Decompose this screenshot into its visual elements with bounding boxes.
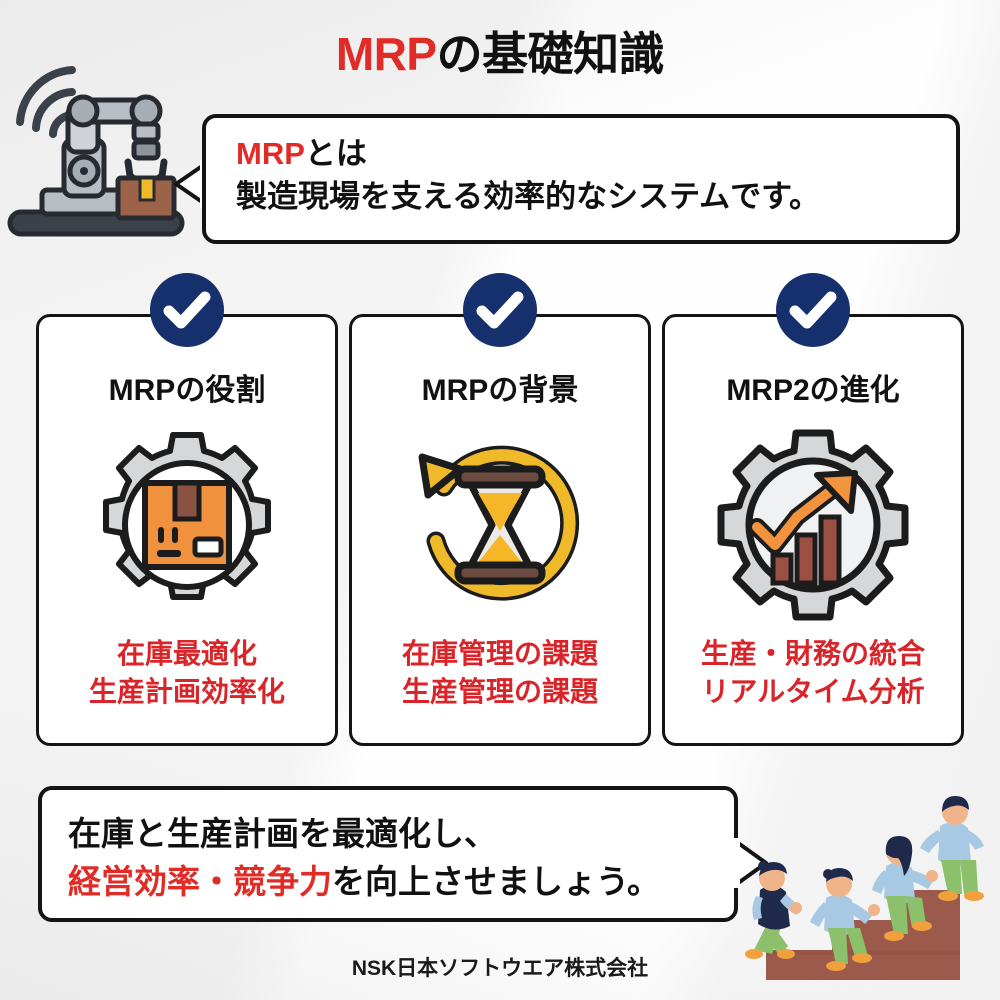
card-body-line-1: 生産・財務の統合 bbox=[665, 635, 961, 673]
card-mrp-role[interactable]: MRPの役割 在庫最適化 生産計画効率化 bbox=[36, 314, 338, 746]
intro-line-1: MRPとは bbox=[236, 134, 956, 174]
conclusion-line-2-rest: を向上させましょう。 bbox=[332, 863, 660, 900]
card-body-line-2: リアルタイム分析 bbox=[665, 673, 961, 711]
hourglass-refresh-icon bbox=[400, 425, 600, 625]
gear-growth-chart-icon bbox=[713, 425, 913, 625]
page-title-rest: の基礎知識 bbox=[437, 28, 665, 80]
conclusion-line-1-text: 在庫と生産計画を最適化し、 bbox=[68, 815, 497, 852]
check-circle-icon bbox=[463, 273, 537, 347]
company-footer: NSK日本ソフトウエア株式会社 bbox=[0, 952, 1000, 982]
card-body: 在庫管理の課題 生産管理の課題 bbox=[352, 635, 648, 711]
conclusion-line-2: 経営効率・競争力を向上させましょう。 bbox=[68, 858, 734, 906]
card-title: MRPの役割 bbox=[39, 365, 335, 409]
conclusion-line-2-accent: 経営効率・競争力 bbox=[68, 863, 332, 900]
conclusion-speech-bubble: 在庫と生産計画を最適化し、 経営効率・競争力を向上させましょう。 bbox=[38, 786, 738, 922]
check-circle-icon bbox=[150, 273, 224, 347]
card-mrp2-evolution[interactable]: MRP2の進化 生産・財務の統合 リアルタイム bbox=[662, 314, 964, 746]
intro-line-1-accent: MRP bbox=[236, 136, 305, 171]
card-title: MRP2の進化 bbox=[665, 365, 961, 409]
card-title: MRPの背景 bbox=[352, 365, 648, 409]
robot-arm-icon bbox=[6, 44, 186, 244]
infographic-canvas: MRPの基礎知識 bbox=[0, 0, 1000, 1000]
card-body-line-1: 在庫最適化 bbox=[39, 635, 335, 673]
intro-line-2: 製造現場を支える効率的なシステムです。 bbox=[236, 174, 956, 220]
card-body-line-1: 在庫管理の課題 bbox=[352, 635, 648, 673]
conclusion-line-1: 在庫と生産計画を最適化し、 bbox=[68, 810, 734, 858]
gear-box-icon bbox=[87, 425, 287, 625]
page-title-accent: MRP bbox=[336, 28, 437, 80]
card-body-line-2: 生産管理の課題 bbox=[352, 673, 648, 711]
intro-speech-bubble: MRPとは 製造現場を支える効率的なシステムです。 bbox=[202, 114, 960, 244]
card-mrp-background[interactable]: MRPの背景 在庫管理の課題 生産管理の課題 bbox=[349, 314, 651, 746]
card-body-line-2: 生産計画効率化 bbox=[39, 673, 335, 711]
intro-line-1-rest: とは bbox=[305, 136, 367, 171]
card-body: 在庫最適化 生産計画効率化 bbox=[39, 635, 335, 711]
card-body: 生産・財務の統合 リアルタイム分析 bbox=[665, 635, 961, 711]
check-circle-icon bbox=[776, 273, 850, 347]
